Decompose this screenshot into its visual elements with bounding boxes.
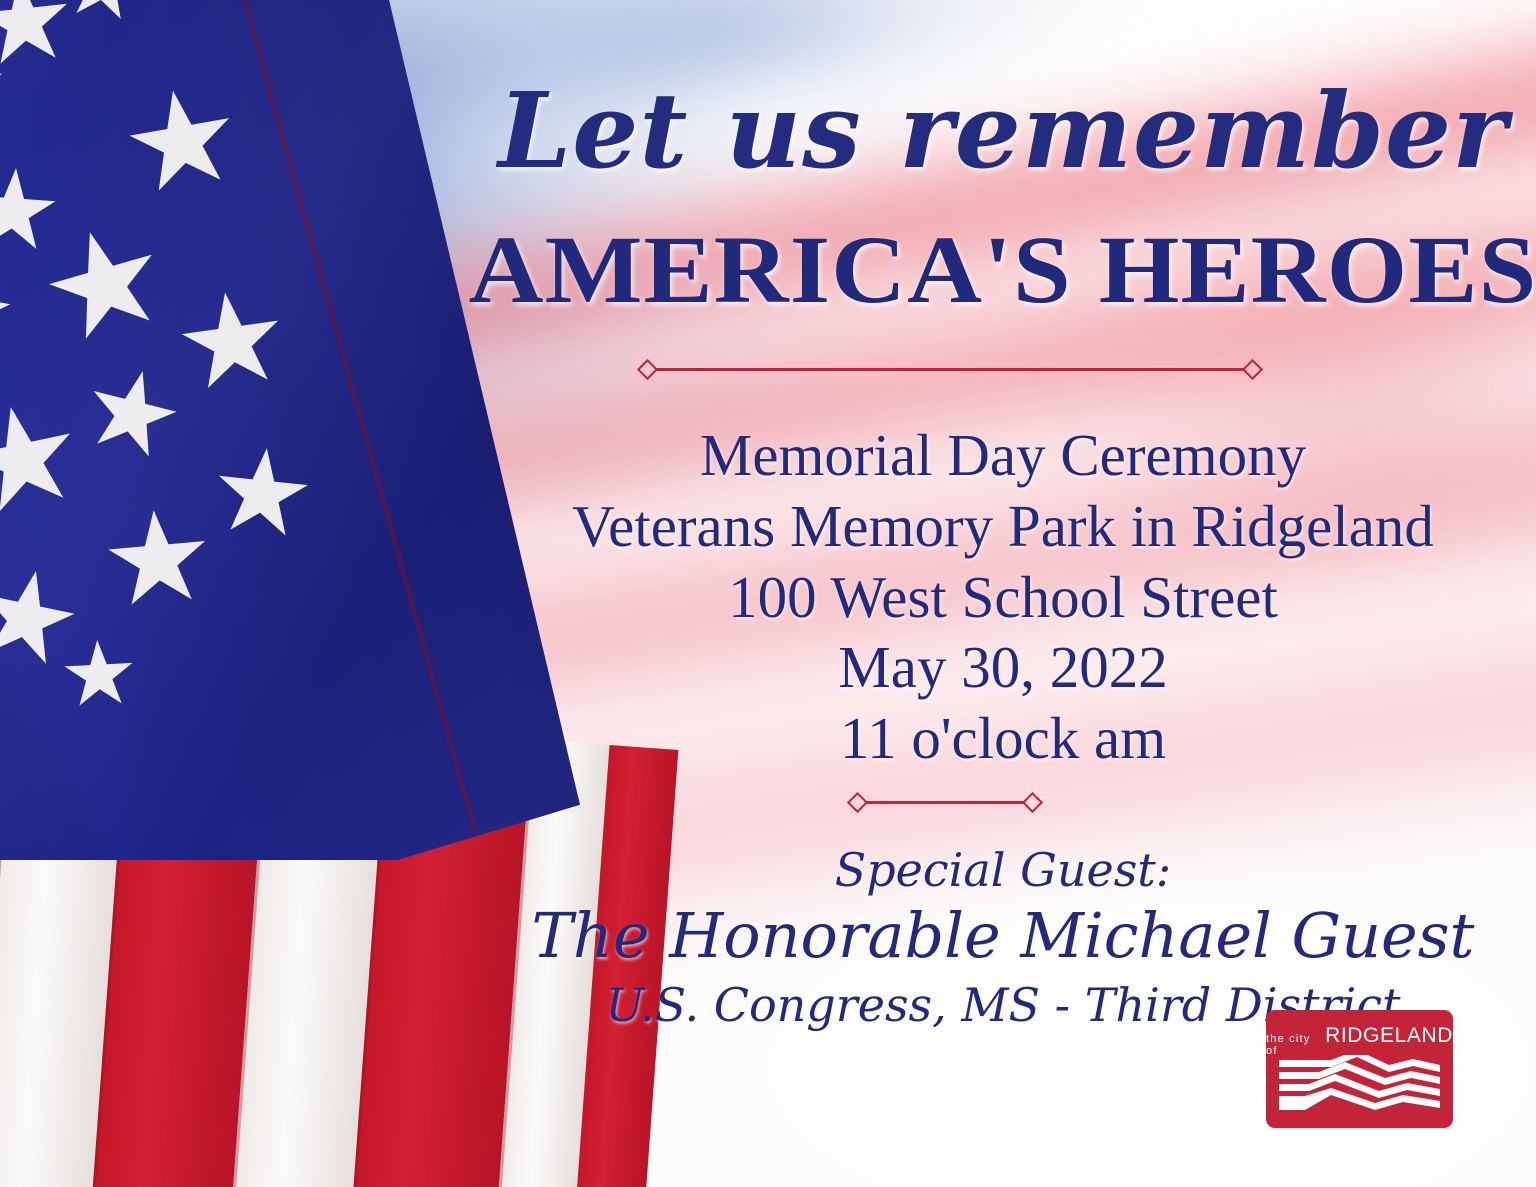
logo-wordmark: the city of RIDGELAND [1266, 1024, 1453, 1057]
diamond-icon [1022, 791, 1043, 812]
event-venue: Veterans Memory Park in Ridgeland [470, 491, 1536, 562]
divider-rule [865, 801, 1025, 804]
event-name: Memorial Day Ceremony [470, 420, 1536, 491]
divider-rule [655, 368, 1245, 371]
diamond-icon [637, 358, 658, 379]
logo-city-name: RIDGELAND [1325, 1024, 1453, 1048]
poster-headline: AMERICA'S HEROES [427, 222, 1536, 318]
event-address: 100 West School Street [470, 562, 1536, 633]
logo-prefix: the city of [1266, 1033, 1318, 1057]
poster-content: Let us remember AMERICA'S HEROES Memoria… [470, 0, 1536, 1187]
diamond-icon [847, 791, 868, 812]
special-guest-label: Special Guest: [470, 845, 1536, 897]
event-details: Memorial Day Ceremony Veterans Memory Pa… [470, 420, 1536, 774]
event-time: 11 o'clock am [470, 703, 1536, 774]
ridgeland-city-logo: the city of RIDGELAND [1266, 1010, 1453, 1128]
divider-bottom [850, 795, 1040, 809]
script-tagline: Let us remember [470, 76, 1536, 185]
special-guest-block: Special Guest: The Honorable Michael Gue… [470, 845, 1536, 1032]
event-date: May 30, 2022 [470, 632, 1536, 703]
memorial-day-poster: Let us remember AMERICA'S HEROES Memoria… [0, 0, 1536, 1187]
wave-lines-icon [1279, 1055, 1440, 1112]
special-guest-name: The Honorable Michael Guest [470, 899, 1536, 972]
diamond-icon [1242, 358, 1263, 379]
divider-top [640, 362, 1260, 376]
